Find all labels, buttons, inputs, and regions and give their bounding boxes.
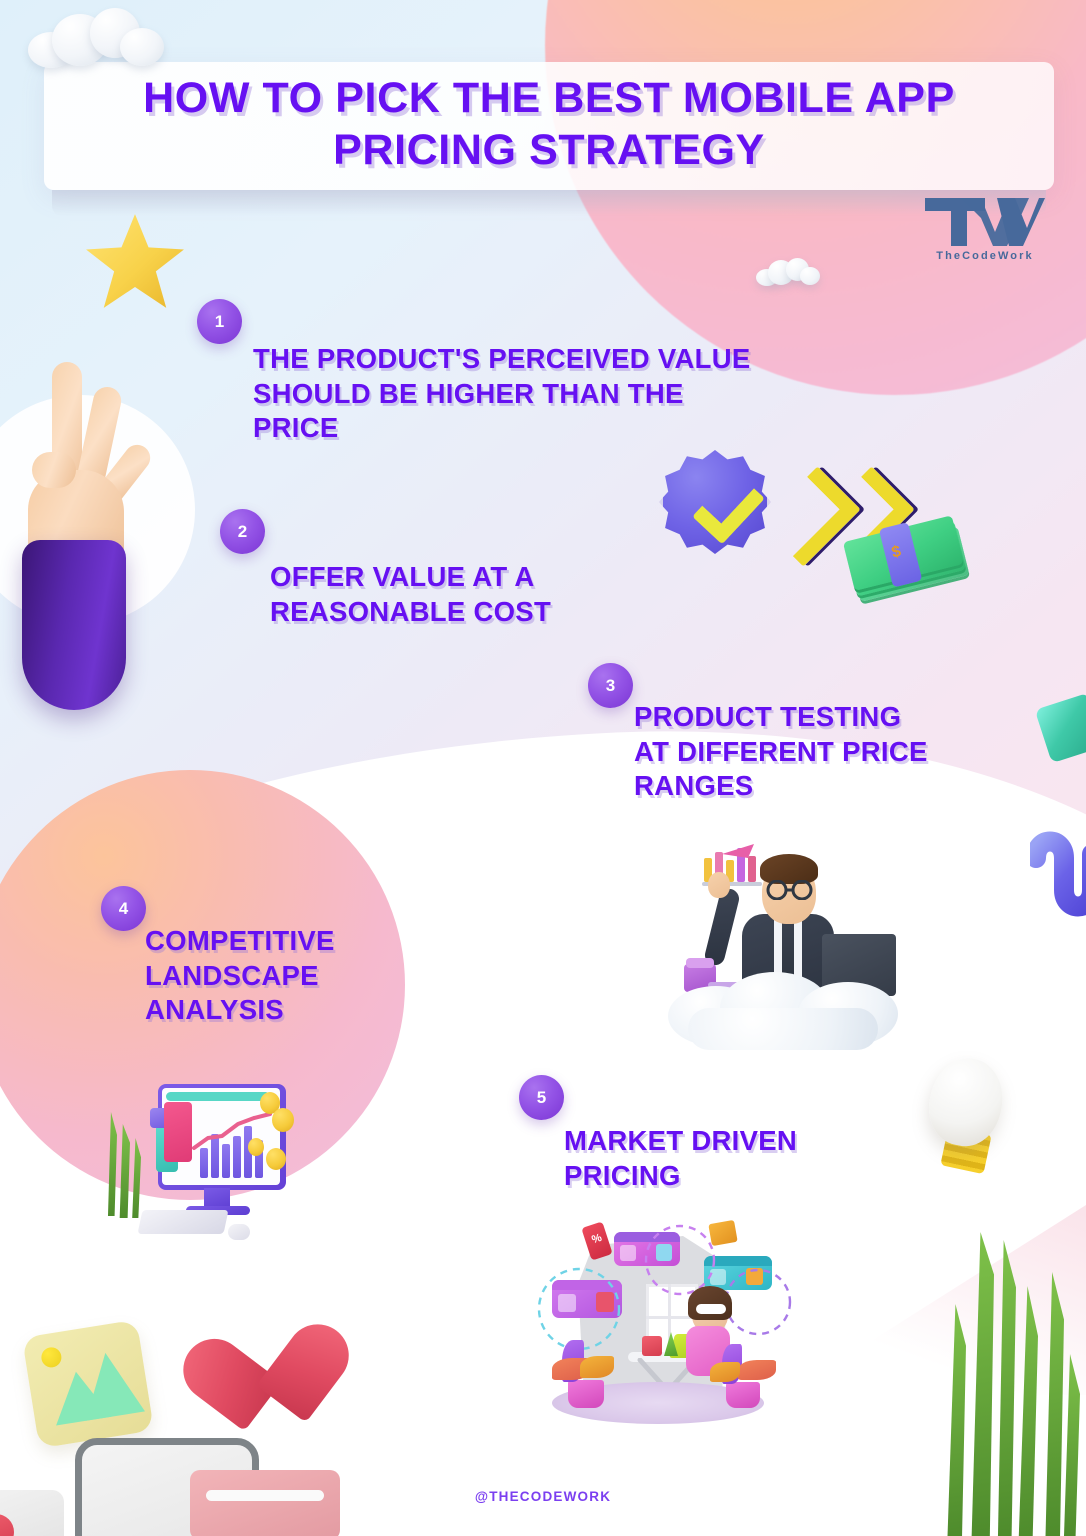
step-label: COMPETITIVE LANDSCAPE ANALYSIS [145,924,425,1028]
step-label: PRODUCT TESTING AT DIFFERENT PRICE RANGE… [634,700,934,804]
page-title: HOW TO PICK THE BEST MOBILE APP PRICING … [44,72,1054,177]
step-number-badge: 5 [519,1075,564,1120]
step-label: MARKET DRIVEN PRICING [564,1124,904,1193]
step-number-badge: 3 [588,663,633,708]
step-number-badge: 1 [197,299,242,344]
infographic-poster: HOW TO PICK THE BEST MOBILE APP PRICING … [0,0,1086,1536]
cube-icon [1035,693,1086,764]
step-label: OFFER VALUE AT A REASONABLE COST [270,560,600,629]
image-dot-icon [40,1346,63,1369]
market-workspace-illustration: % [516,1206,800,1428]
star-icon [82,212,188,312]
step-number-badge: 4 [101,886,146,931]
businessman-on-cloud-illustration [668,836,898,1051]
tcw-logo-icon [915,196,1055,248]
title-card-shadow [52,190,1046,216]
heart-icon [232,1325,357,1440]
squiggle-icon [1030,828,1086,920]
step-number-badge: 2 [220,509,265,554]
footer-handle[interactable]: @THECODEWORK [0,1489,1086,1504]
brand-logo[interactable]: TheCodeWork [915,196,1055,262]
page-title-line-1: HOW TO PICK THE BEST MOBILE APP [44,72,1054,124]
step-label: THE PRODUCT'S PERCEIVED VALUE SHOULD BE … [253,342,773,446]
analytics-monitor-illustration [96,1076,316,1246]
image-placeholder-icon [22,1320,154,1449]
cloud-icon-small [756,258,820,288]
brand-logo-name: TheCodeWork [915,250,1055,262]
page-title-line-2: PRICING STRATEGY [44,124,1054,176]
cloud-icon [28,8,168,70]
